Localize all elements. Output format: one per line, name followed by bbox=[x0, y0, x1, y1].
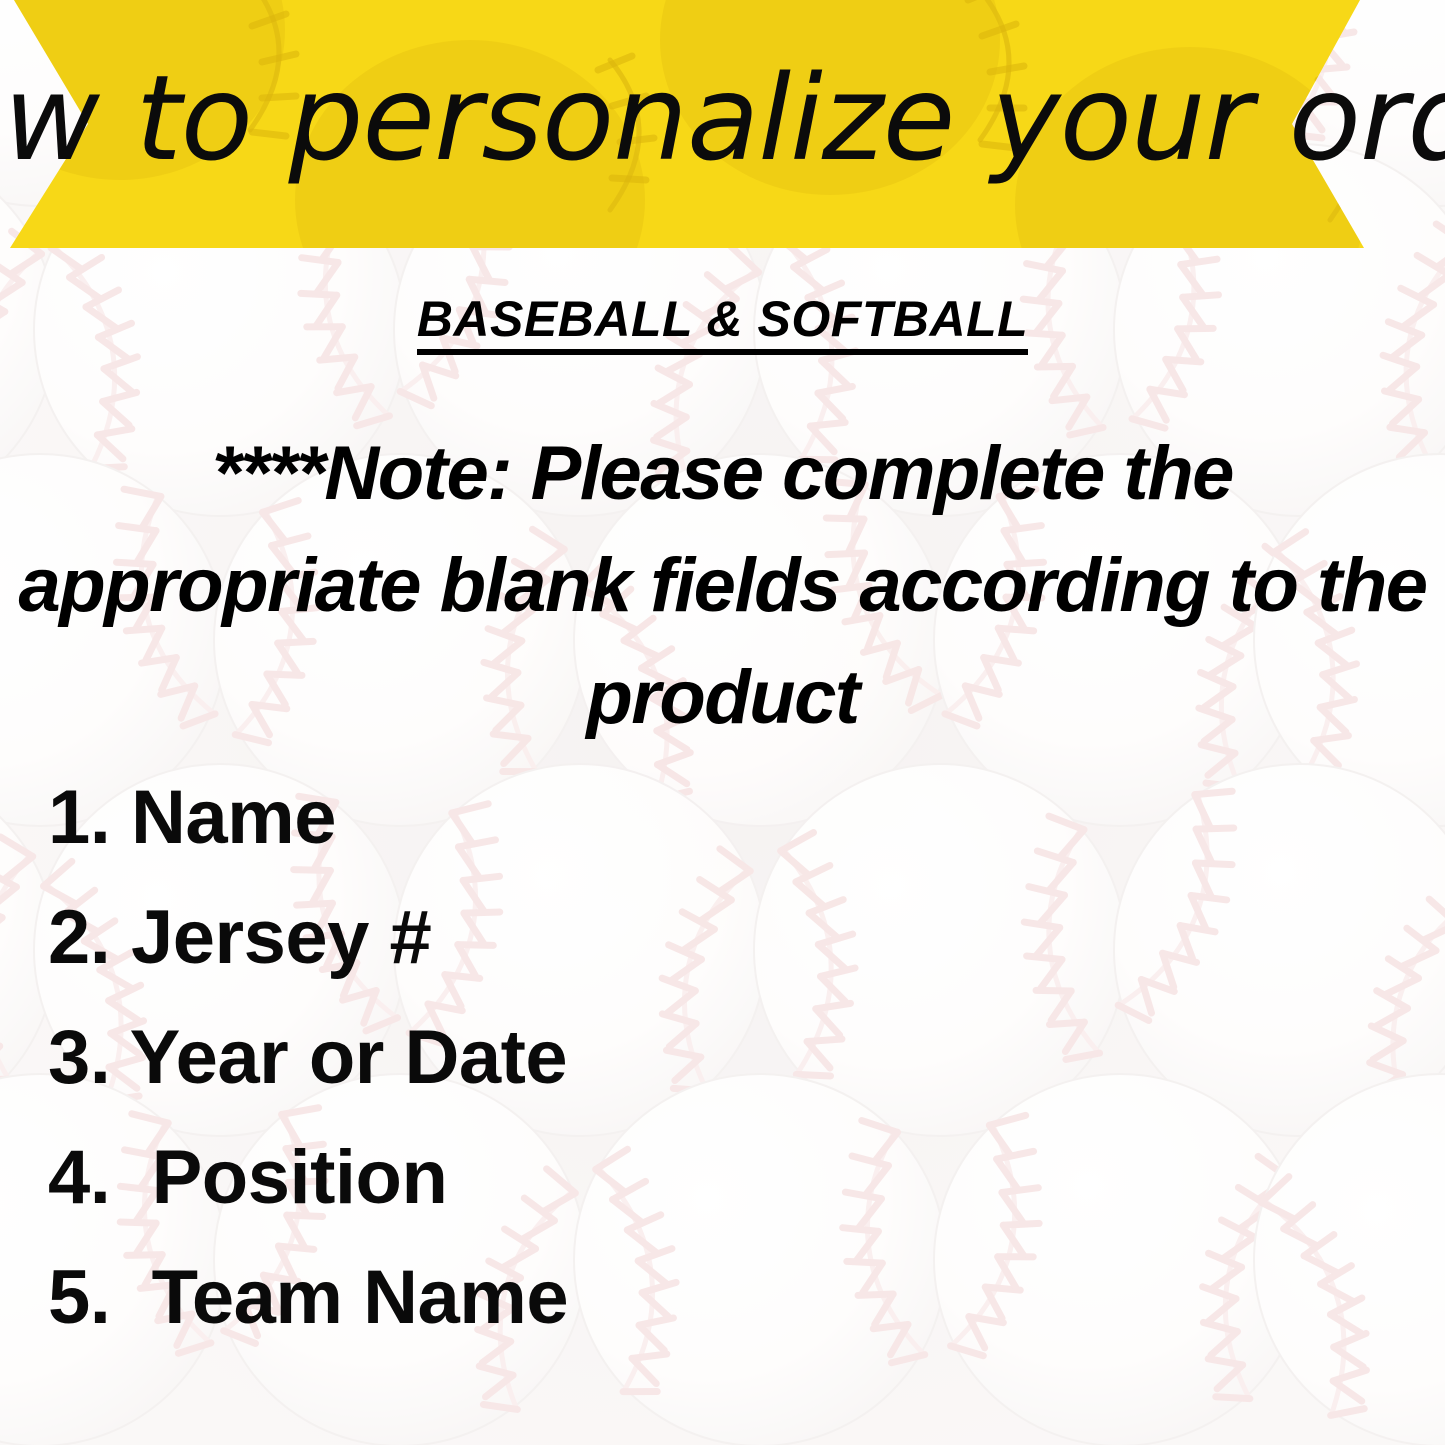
list-item: 5. Team Name bbox=[48, 1238, 1405, 1358]
personalization-instructions-graphic: How to personalize your order BASEBALL &… bbox=[0, 0, 1445, 1445]
list-item: 2. Jersey # bbox=[48, 878, 1405, 998]
personalization-steps-list: 1. Name 2. Jersey # 3. Year or Date 4. P… bbox=[48, 758, 1405, 1358]
section-subtitle-text: BASEBALL & SOFTBALL bbox=[417, 291, 1028, 355]
list-item: 3. Year or Date bbox=[48, 998, 1405, 1118]
list-item: 4. Position bbox=[48, 1118, 1405, 1238]
note-text: ****Note: Please complete the appropriat… bbox=[18, 418, 1427, 754]
section-subtitle: BASEBALL & SOFTBALL bbox=[0, 290, 1445, 348]
list-item: 1. Name bbox=[48, 758, 1405, 878]
banner-title: How to personalize your order bbox=[0, 0, 1445, 242]
header-banner: How to personalize your order bbox=[0, 0, 1445, 248]
